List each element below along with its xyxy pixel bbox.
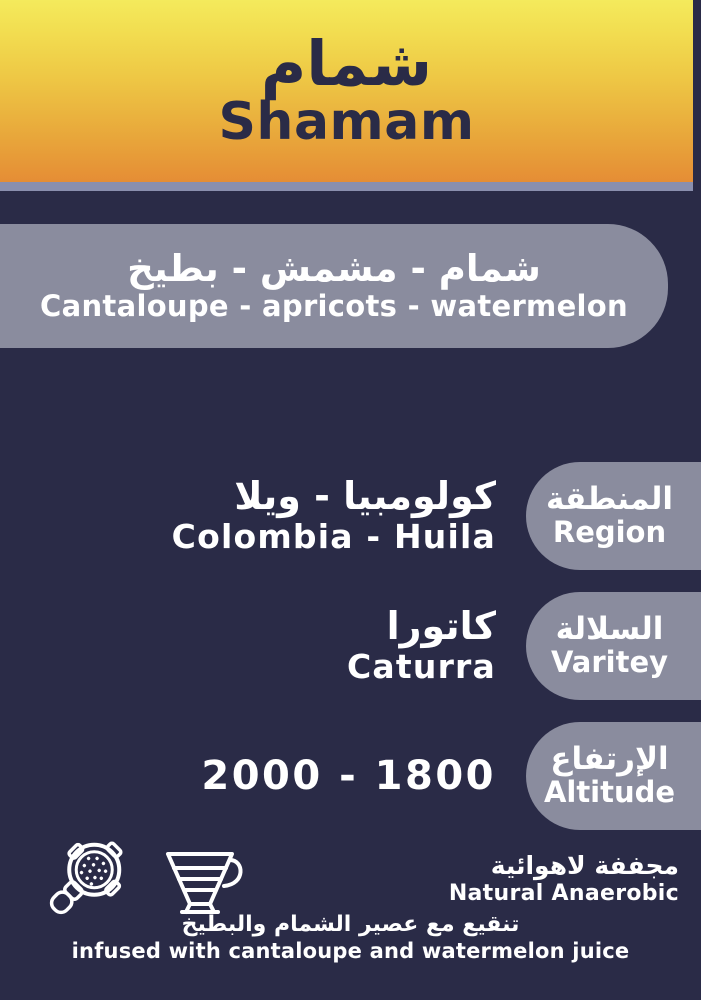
spec-value-variety-english: Caturra (0, 649, 496, 686)
header-title-arabic: شمام (261, 34, 432, 95)
spec-label-variety-arabic: السلالة (556, 613, 664, 646)
spec-value-altitude: 2000 - 1800 (0, 754, 526, 798)
header-banner: شمام Shamam (0, 0, 693, 182)
spec-label-variety-english: Varitey (551, 647, 668, 679)
flavour-notes-pill: شمام - مشمش - بطيخ Cantaloupe - apricots… (0, 224, 668, 348)
header-title-english: Shamam (218, 96, 474, 148)
spec-label-region-arabic: المنطقة (546, 483, 673, 516)
spec-label-pill-region: المنطقة Region (526, 462, 701, 570)
header-divider (0, 182, 693, 191)
flavour-notes-arabic: شمام - مشمش - بطيخ (127, 249, 541, 288)
spec-value-region-arabic: كولومبيا - ويلا (0, 476, 496, 517)
spec-row-region: كولومبيا - ويلا Colombia - Huila المنطقة… (0, 462, 701, 570)
infusion-english: infused with cantaloupe and watermelon j… (0, 939, 701, 964)
flavour-notes-english: Cantaloupe - apricots - watermelon (40, 291, 628, 323)
process-block: مجففة لاهوائية Natural Anaerobic (449, 852, 679, 906)
spec-label-pill-variety: السلالة Varitey (526, 592, 701, 700)
spec-value-region-english: Colombia - Huila (0, 519, 496, 556)
spec-label-region-english: Region (553, 517, 666, 549)
spec-value-variety-arabic: كاتورا (0, 606, 496, 647)
process-english: Natural Anaerobic (449, 881, 679, 906)
pour-over-dripper-icon (160, 840, 252, 920)
process-arabic: مجففة لاهوائية (449, 852, 679, 880)
spec-row-altitude: 2000 - 1800 الإرتفاع Altitude (0, 722, 701, 830)
spec-value-variety: كاتورا Caturra (0, 606, 526, 686)
spec-value-altitude-range: 2000 - 1800 (0, 754, 496, 798)
infusion-arabic: تنقيع مع عصير الشمام والبطيخ (0, 912, 701, 937)
infusion-block: تنقيع مع عصير الشمام والبطيخ infused wit… (0, 912, 701, 964)
spec-label-pill-altitude: الإرتفاع Altitude (526, 722, 701, 830)
spec-label-altitude-english: Altitude (544, 777, 675, 809)
spec-label-altitude-arabic: الإرتفاع (550, 743, 668, 776)
coffee-label-card: شمام Shamam شمام - مشمش - بطيخ Cantaloup… (0, 0, 701, 1000)
spec-value-region: كولومبيا - ويلا Colombia - Huila (0, 476, 526, 556)
spec-row-variety: كاتورا Caturra السلالة Varitey (0, 592, 701, 700)
